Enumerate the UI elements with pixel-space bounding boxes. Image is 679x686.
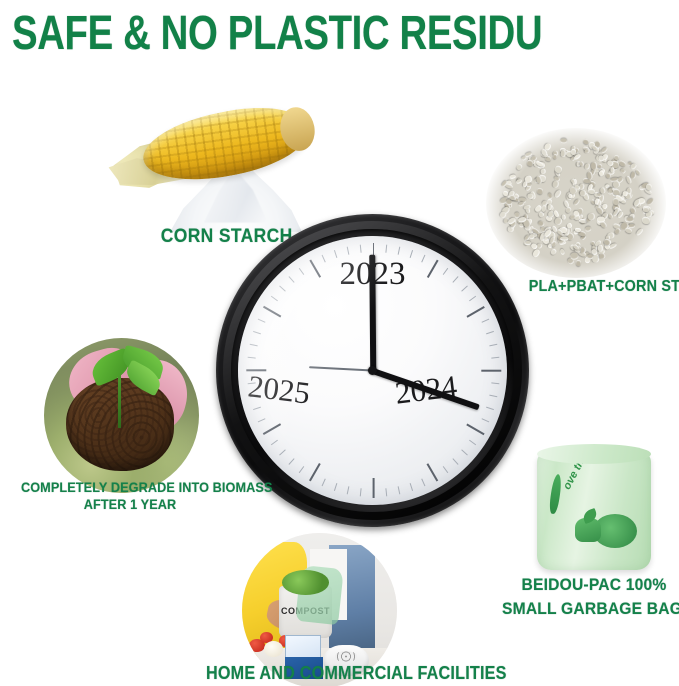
pellet (599, 253, 605, 258)
clock-tick-minor (241, 342, 257, 346)
clock-tick-minor (345, 239, 349, 255)
clock-tick-minor (397, 486, 401, 502)
clock-tick-minor (452, 458, 463, 471)
onion (264, 641, 283, 657)
pellet (597, 216, 605, 222)
pellet (643, 207, 649, 212)
clock-tick-minor (409, 242, 415, 258)
clock-tick-major (426, 463, 441, 487)
clock-tick-major (305, 463, 320, 487)
clock-tick-minor (331, 483, 337, 499)
clock-tick-minor (469, 440, 483, 450)
clock-tick-minor (245, 407, 261, 413)
clock-tick-major (466, 424, 490, 439)
clock-tick-minor (486, 407, 502, 413)
clock-tick-minor (461, 449, 474, 460)
clock-tick-minor (264, 291, 278, 301)
bag-roll-body: ove the Future (537, 452, 651, 570)
clock-tick-minor (481, 418, 496, 425)
clock-tick-minor (489, 342, 505, 346)
pellet (526, 159, 533, 166)
clock-minute-hand (369, 255, 376, 371)
clock-tick-minor (245, 328, 261, 334)
clock-tick-minor (397, 239, 401, 255)
clock-second-hand (309, 366, 373, 371)
clock-tick-minor (358, 488, 361, 504)
caption-home-commercial-facilities: HOME AND COMMERCIAL FACILITIES (206, 663, 458, 684)
pellet (586, 253, 593, 259)
caption-pla-pbat-corn-starch: PLA+PBAT+CORN STARCH (529, 278, 679, 296)
pellet (579, 190, 586, 196)
clock-face: 2023 2024 2025 (238, 236, 507, 505)
clock-center-cap (368, 366, 377, 375)
pellet (560, 237, 568, 241)
clock-tick-minor (486, 328, 502, 334)
caption-degrade-line1: COMPLETELY DEGRADE INTO BIOMASS (21, 479, 239, 496)
clock-tick-minor (239, 356, 255, 359)
clock-tick-minor (294, 466, 304, 480)
clock-tick-minor (283, 270, 294, 283)
clock-tick-minor (264, 440, 278, 450)
clock-tick-major (305, 254, 320, 278)
clock-tick-minor (318, 479, 325, 494)
pellet (588, 189, 595, 194)
pellet (642, 216, 651, 224)
clock-tick-minor (358, 237, 361, 253)
clock-tick-minor (318, 247, 325, 262)
clock-tick-minor (421, 479, 428, 494)
clock-tick-minor (491, 356, 507, 359)
degradation-photo (44, 338, 199, 493)
clock-tick-minor (421, 247, 428, 262)
pellet (612, 198, 619, 206)
clock-tick-minor (294, 261, 304, 275)
clock-tick-minor (385, 237, 388, 253)
clock-tick-minor (283, 458, 294, 471)
pellet (622, 191, 628, 196)
clock-tick-minor (409, 483, 415, 499)
seedling-stem (118, 372, 121, 428)
clock-tick-minor (491, 382, 507, 385)
pellet (541, 169, 546, 174)
pellet (560, 138, 567, 144)
infographic-canvas: SAFE & NO PLASTIC RESIDU CORN STARCH PLA… (0, 0, 679, 686)
leaf-icon (548, 474, 562, 515)
vegetable-scraps (282, 570, 329, 595)
clock-tick-minor (345, 486, 349, 502)
page-title: SAFE & NO PLASTIC RESIDU (12, 8, 542, 60)
clock-tick-major (426, 254, 441, 278)
clock-tick-major (466, 303, 490, 318)
clock-tick-major (481, 370, 507, 372)
clock-tick-minor (250, 315, 265, 322)
pellet (587, 213, 594, 220)
bag-roll-top (537, 444, 651, 464)
clock-tick-minor (461, 280, 474, 291)
clock-tick-minor (385, 488, 388, 504)
clock-tick-minor (273, 280, 286, 291)
caption-bag-line2: SMALL GARBAGE BAGS (502, 597, 679, 621)
caption-bag-line1: BEIDOU-PAC 100% (502, 573, 679, 597)
clock-tick-minor (442, 261, 452, 275)
clock-tick-major (373, 478, 375, 505)
clock-tick-major (256, 303, 280, 318)
clock-tick-major (256, 424, 280, 439)
caption-degrade-biomass: COMPLETELY DEGRADE INTO BIOMASS AFTER 1 … (21, 479, 239, 513)
garbage-bag-roll-illustration: ove the Future (537, 452, 651, 570)
clock-tick-minor (331, 242, 337, 258)
clock-tick-minor (273, 449, 286, 460)
clock-tick-minor (489, 395, 505, 399)
caption-beidou-pac-bags: BEIDOU-PAC 100% SMALL GARBAGE BAGS (502, 573, 679, 621)
clock-tick-minor (250, 418, 265, 425)
clock-tick-minor (452, 270, 463, 283)
clock-tick-minor (442, 466, 452, 480)
clock-tick-minor (481, 315, 496, 322)
clock-year-2025: 2025 (246, 368, 312, 411)
caption-degrade-line2: AFTER 1 YEAR (21, 496, 239, 513)
clock-tick-minor (469, 291, 483, 301)
